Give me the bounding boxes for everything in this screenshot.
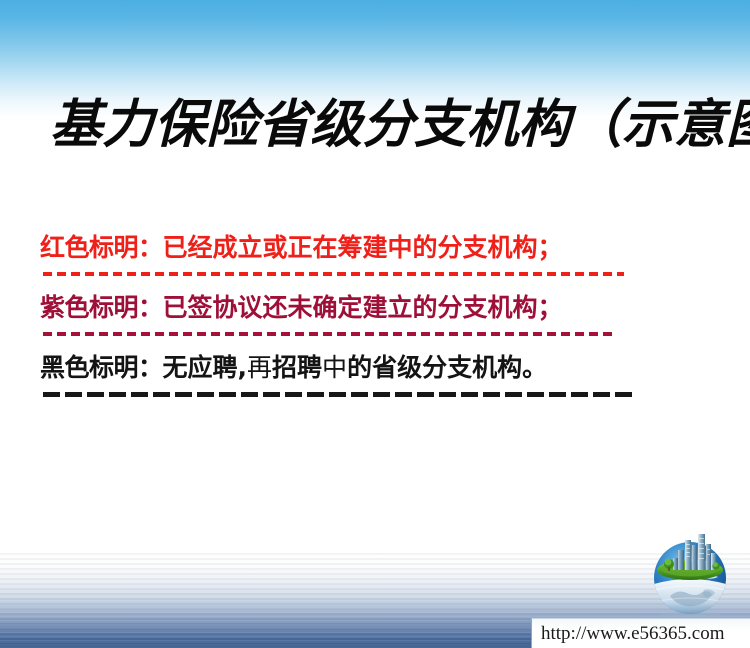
legend-body-black-thin-a: 再	[247, 353, 272, 382]
legend-body-black-c: 的省级分支机构。	[347, 353, 547, 382]
legend-prefix-black: 黑色标明：	[40, 353, 163, 382]
legend-divider-plum	[43, 327, 613, 341]
legend-prefix-plum: 紫色标明：	[40, 293, 163, 322]
legend-body-black-thin-b: 中	[322, 353, 347, 382]
legend-row-red: 红色标明：已经成立或正在筹建中的分支机构；	[40, 234, 700, 281]
legend-label-black: 黑色标明：无应聘,再招聘中的省级分支机构。	[40, 354, 700, 381]
globe-city-icon	[638, 520, 742, 624]
legend-body-plum: 已签协议还未确定建立的分支机构；	[163, 293, 563, 322]
legend-body-red: 已经成立或正在筹建中的分支机构；	[163, 233, 563, 262]
legend-row-plum: 紫色标明：已签协议还未确定建立的分支机构；	[40, 294, 700, 341]
watermark-url-text: http://www.e56365.com	[541, 623, 724, 645]
slide-canvas: 基力保险省级分支机构（示意图） 红色标明：已经成立或正在筹建中的分支机构； 紫色…	[0, 0, 750, 648]
page-title: 基力保险省级分支机构（示意图）	[50, 99, 710, 154]
legend-divider-red	[43, 267, 624, 281]
watermark-url-plate: http://www.e56365.com	[531, 618, 750, 648]
legend-divider-black	[43, 387, 633, 401]
legend-block: 红色标明：已经成立或正在筹建中的分支机构； 紫色标明：已签协议还未确定建立的分支…	[40, 234, 700, 401]
legend-body-black-a: 无应聘,	[163, 353, 248, 382]
legend-prefix-red: 红色标明：	[40, 233, 163, 262]
legend-label-plum: 紫色标明：已签协议还未确定建立的分支机构；	[40, 294, 700, 321]
legend-body-black-b: 招聘	[272, 353, 322, 382]
legend-row-black: 黑色标明：无应聘,再招聘中的省级分支机构。	[40, 354, 700, 401]
legend-label-red: 红色标明：已经成立或正在筹建中的分支机构；	[40, 234, 700, 261]
